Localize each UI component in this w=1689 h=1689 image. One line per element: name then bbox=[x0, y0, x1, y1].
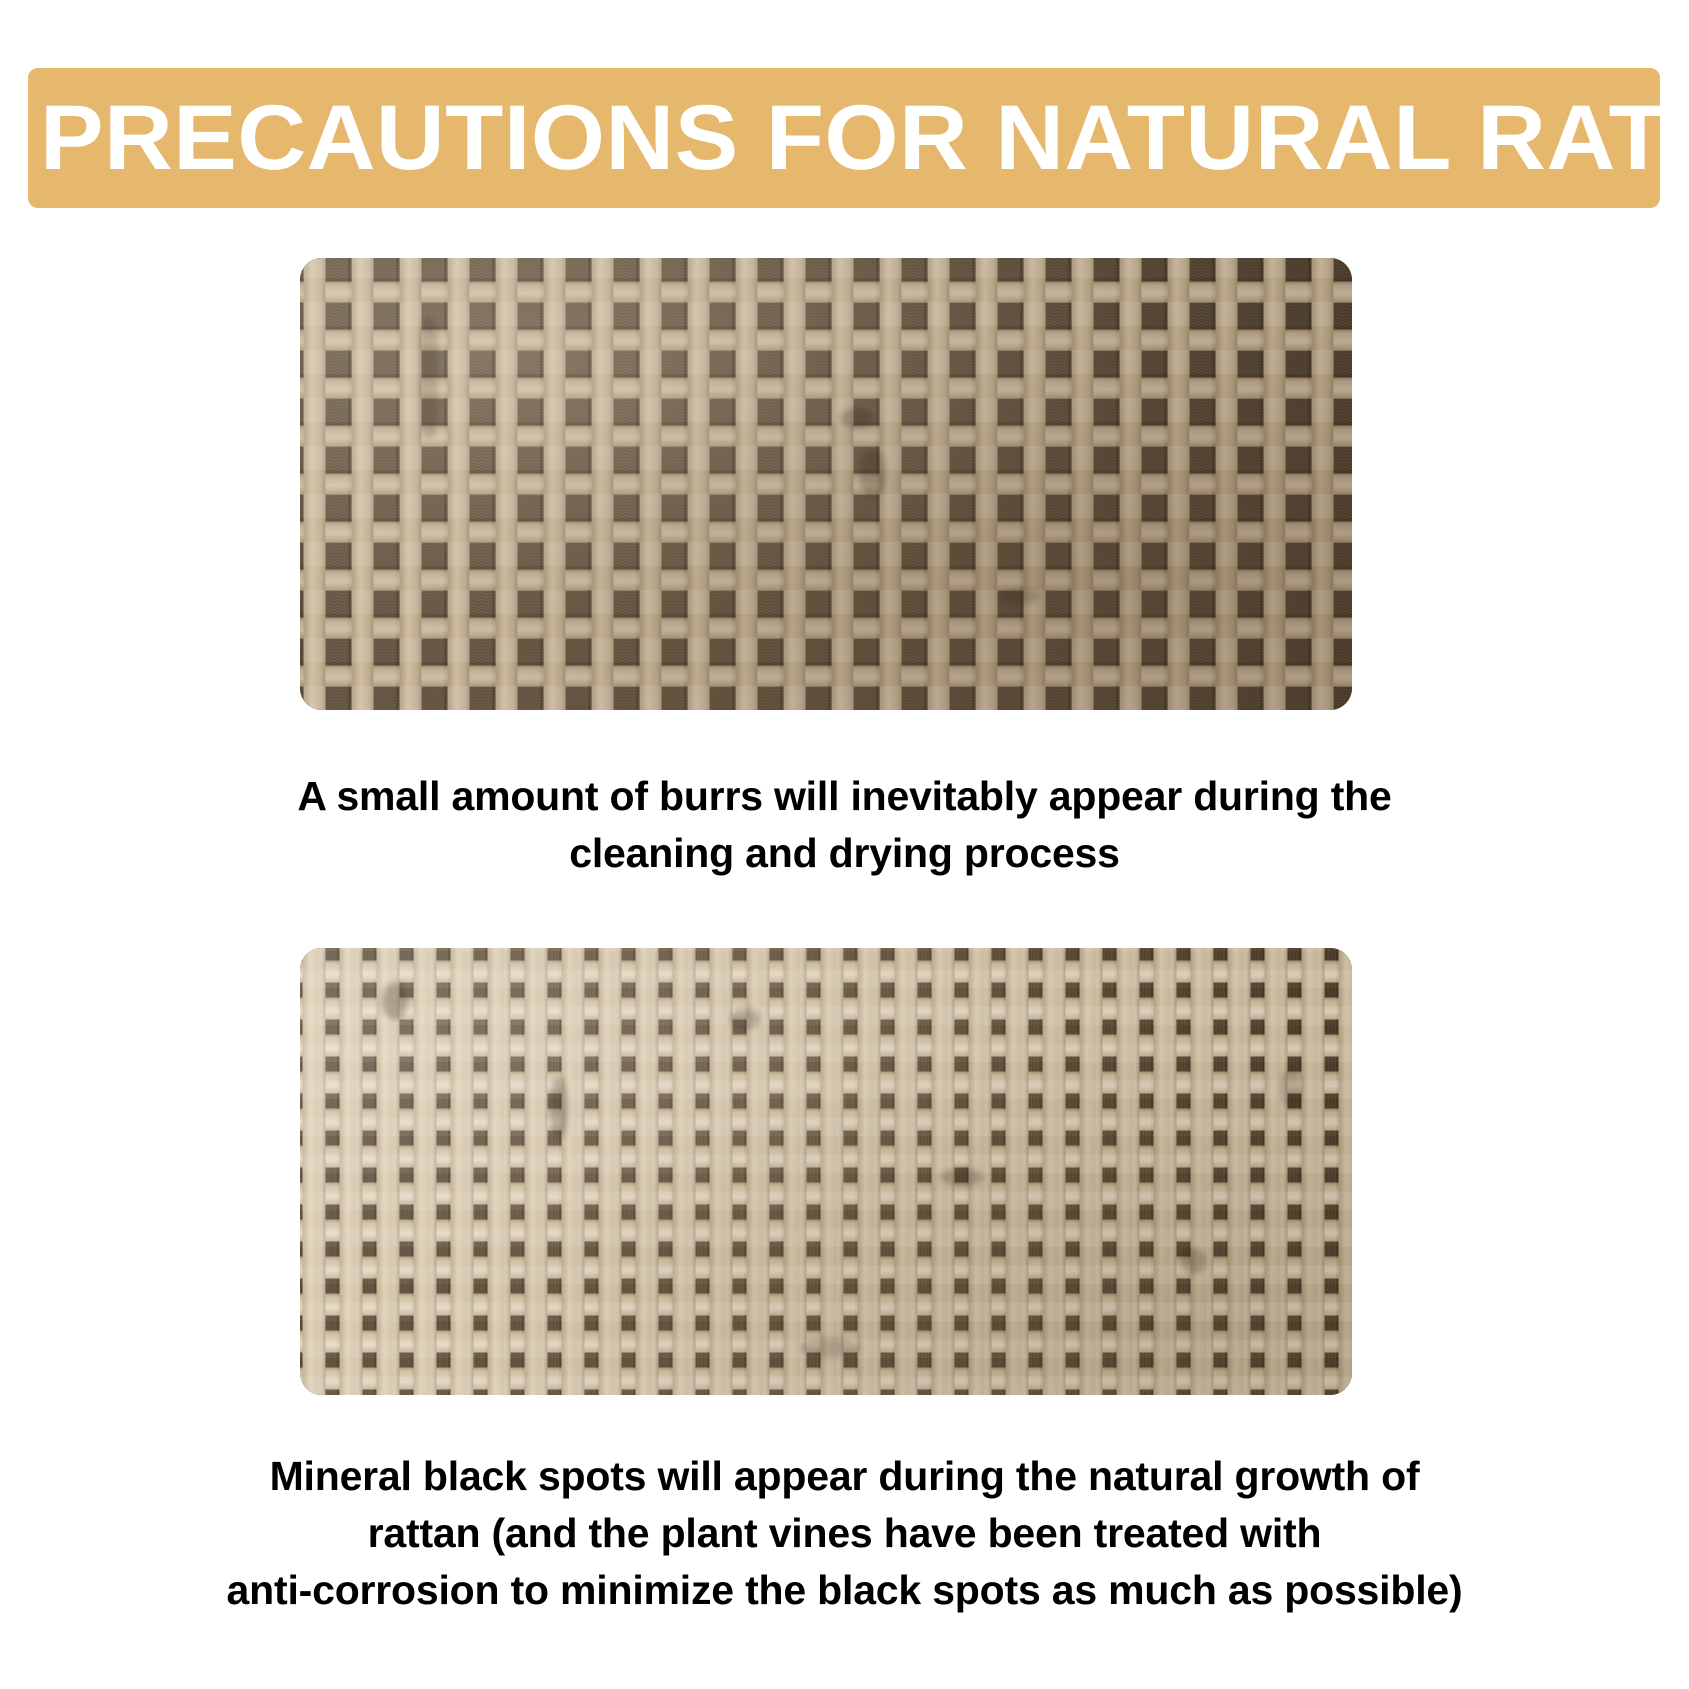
caption-burrs: A small amount of burrs will inevitably … bbox=[0, 768, 1689, 882]
header-banner: PRECAUTIONS FOR NATURAL RATTAN bbox=[28, 68, 1660, 208]
infographic-page: PRECAUTIONS FOR NATURAL RATTAN A small a… bbox=[0, 0, 1689, 1689]
rattan-coarse-weave-image bbox=[300, 258, 1352, 710]
page-title: PRECAUTIONS FOR NATURAL RATTAN bbox=[40, 92, 1689, 184]
caption-black-spots: Mineral black spots will appear during t… bbox=[0, 1448, 1689, 1619]
coarse-weave-texture bbox=[300, 258, 1352, 710]
fine-weave-texture bbox=[300, 948, 1352, 1395]
rattan-fine-weave-image bbox=[300, 948, 1352, 1395]
